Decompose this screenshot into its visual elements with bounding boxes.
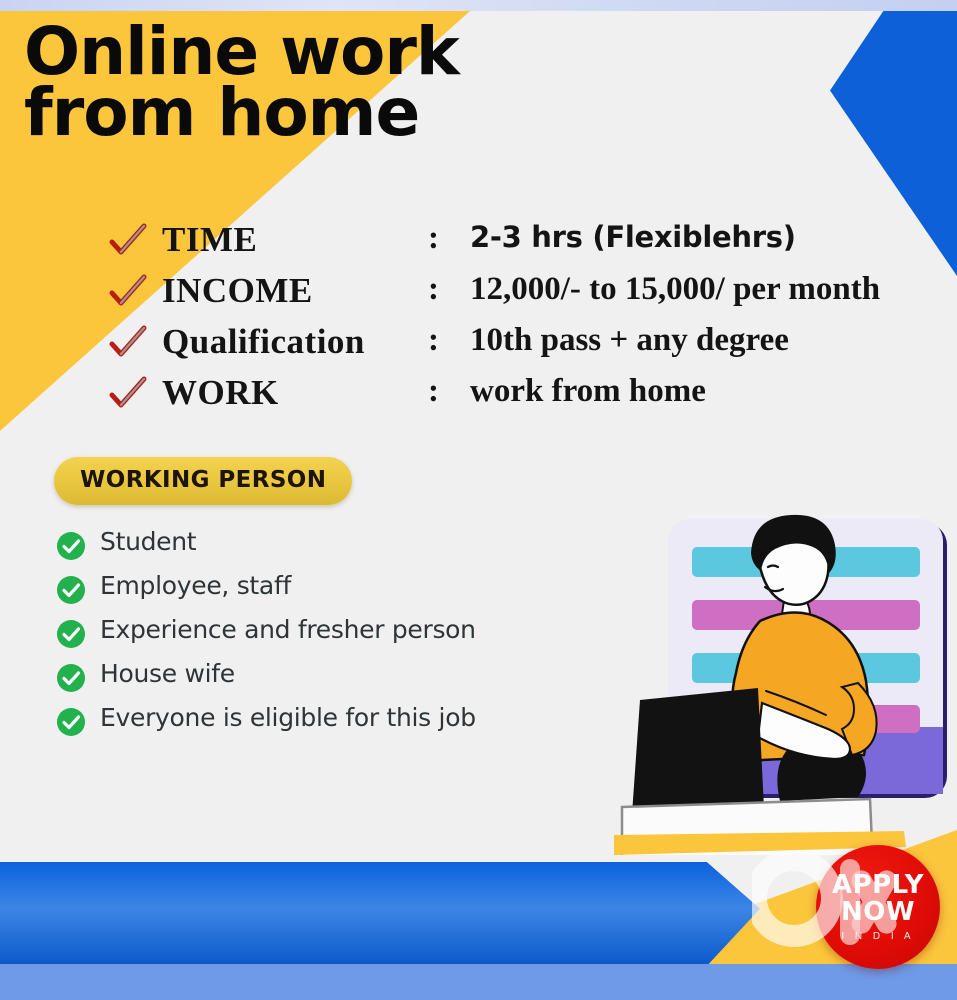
list-item: Student bbox=[56, 527, 576, 571]
red-check-icon bbox=[108, 324, 148, 364]
detail-row: INCOME : 12,000/- to 15,000/ per month bbox=[108, 271, 948, 322]
detail-value: 2-3 hrs (Flexiblehrs) bbox=[470, 220, 796, 254]
detail-separator: : bbox=[428, 271, 439, 308]
detail-row: Qualification : 10th pass + any degree bbox=[108, 322, 948, 373]
list-item: Experience and fresher person bbox=[56, 615, 576, 659]
blue-bottom-banner bbox=[0, 862, 760, 966]
detail-value: work from home bbox=[470, 373, 706, 410]
red-check-icon bbox=[108, 375, 148, 415]
list-item: Everyone is eligible for this job bbox=[56, 703, 576, 747]
list-item-label: Everyone is eligible for this job bbox=[100, 703, 476, 732]
poster-heading: Online work from home bbox=[24, 22, 644, 143]
list-item-label: House wife bbox=[100, 659, 235, 688]
green-check-icon bbox=[56, 619, 86, 649]
detail-label: TIME bbox=[162, 220, 257, 260]
red-check-icon bbox=[108, 222, 148, 262]
poster-canvas: Online work from home TIME : 2-3 hrs (Fl… bbox=[0, 0, 957, 1000]
working-person-badge-label: WORKING PERSON bbox=[80, 467, 326, 493]
blue-bottom-strip bbox=[0, 964, 957, 1000]
list-item-label: Employee, staff bbox=[100, 571, 291, 600]
person-working-on-laptop-illustration bbox=[610, 505, 957, 855]
list-item: Employee, staff bbox=[56, 571, 576, 615]
detail-label: INCOME bbox=[162, 271, 313, 311]
detail-label: Qualification bbox=[162, 322, 365, 362]
olx-watermark bbox=[752, 853, 942, 963]
green-check-icon bbox=[56, 663, 86, 693]
detail-row: WORK : work from home bbox=[108, 373, 948, 424]
top-gradient-strip bbox=[0, 0, 957, 11]
detail-row: TIME : 2-3 hrs (Flexiblehrs) bbox=[108, 220, 948, 271]
list-item: House wife bbox=[56, 659, 576, 703]
red-check-icon bbox=[108, 273, 148, 313]
detail-label: WORK bbox=[162, 373, 279, 413]
job-details-list: TIME : 2-3 hrs (Flexiblehrs) INCOME : 12… bbox=[108, 220, 948, 424]
working-person-badge: WORKING PERSON bbox=[54, 457, 352, 505]
green-check-icon bbox=[56, 575, 86, 605]
green-check-icon bbox=[56, 707, 86, 737]
detail-separator: : bbox=[428, 220, 439, 257]
green-check-icon bbox=[56, 531, 86, 561]
list-item-label: Experience and fresher person bbox=[100, 615, 476, 644]
detail-value: 12,000/- to 15,000/ per month bbox=[470, 271, 880, 308]
detail-separator: : bbox=[428, 373, 439, 410]
detail-value: 10th pass + any degree bbox=[470, 322, 789, 359]
detail-separator: : bbox=[428, 322, 439, 359]
eligibility-list: Student Employee, staff Experience and f… bbox=[56, 527, 576, 747]
list-item-label: Student bbox=[100, 527, 196, 556]
